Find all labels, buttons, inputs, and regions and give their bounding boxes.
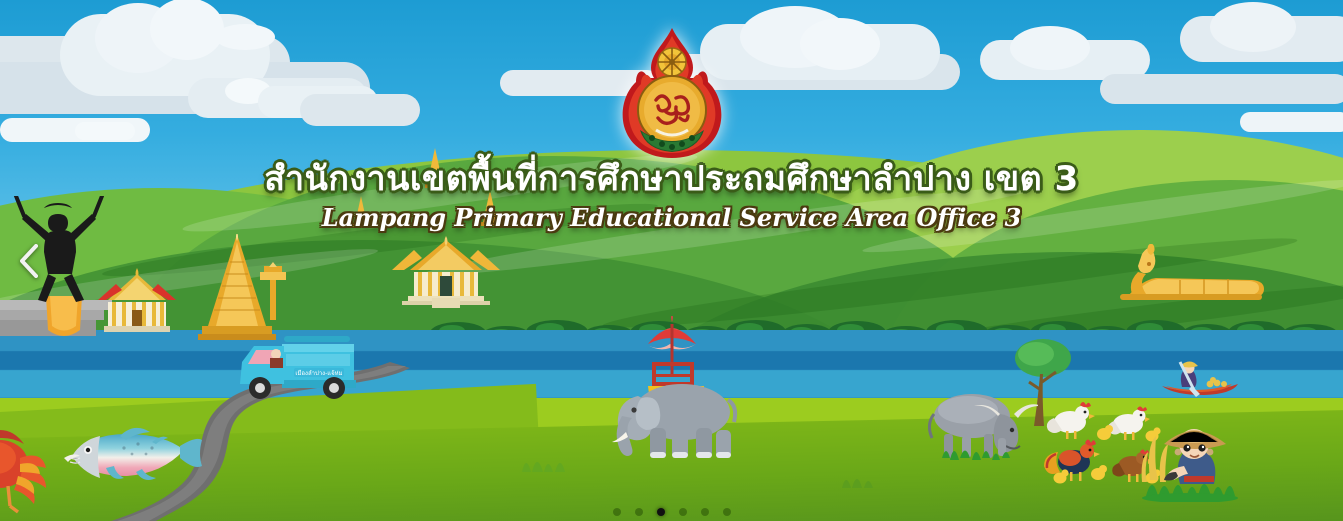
rainbow-trout-fish [58,424,204,493]
rooster [0,418,48,521]
cloud [1100,74,1343,104]
elephant-with-howdah [608,316,758,469]
carousel-prev-button[interactable] [8,238,50,284]
ministry-of-education-emblem-icon [616,26,728,160]
water-buffalo [928,388,1038,469]
hero-carousel-banner: สำนักงานเขตพื้นที่การศึกษาประถมศึกษาลำปา… [0,0,1343,521]
banner-title-group: สำนักงานเขตพื้นที่การศึกษาประถมศึกษาลำปา… [0,160,1343,232]
carousel-dot-5[interactable] [701,508,709,516]
cloud [1210,2,1296,52]
carousel-dot-1[interactable] [613,508,621,516]
carousel-dot-3[interactable] [657,508,665,516]
cloud [1010,26,1090,70]
carousel-dot-2[interactable] [635,508,643,516]
golden-pillar-shrine [258,262,288,325]
cloud [150,0,224,60]
cloud [800,18,880,70]
fisherman-in-boat [1158,358,1244,405]
grass-clump [840,470,886,493]
chevron-left-icon [18,244,40,278]
rice-farmer [1140,410,1250,507]
carousel-dots[interactable] [613,508,731,516]
cloud [215,24,275,50]
grass-clump [520,452,570,477]
reclining-buddha-statue [1118,244,1268,309]
carousel-dot-4[interactable] [679,508,687,516]
carousel-dot-6[interactable] [723,508,731,516]
golden-ubosot-temple [392,236,500,313]
banner-title-english: Lampang Primary Educational Service Area… [0,203,1343,232]
banner-title-thai: สำนักงานเขตพื้นที่การศึกษาประถมศึกษาลำปา… [0,160,1343,199]
blue-songthaew-truck: เมืองลำปาง-แจ้ห่ม [232,336,362,409]
truck-route-text: เมืองลำปาง-แจ้ห่ม [295,369,342,377]
red-roof-temple [92,268,182,337]
